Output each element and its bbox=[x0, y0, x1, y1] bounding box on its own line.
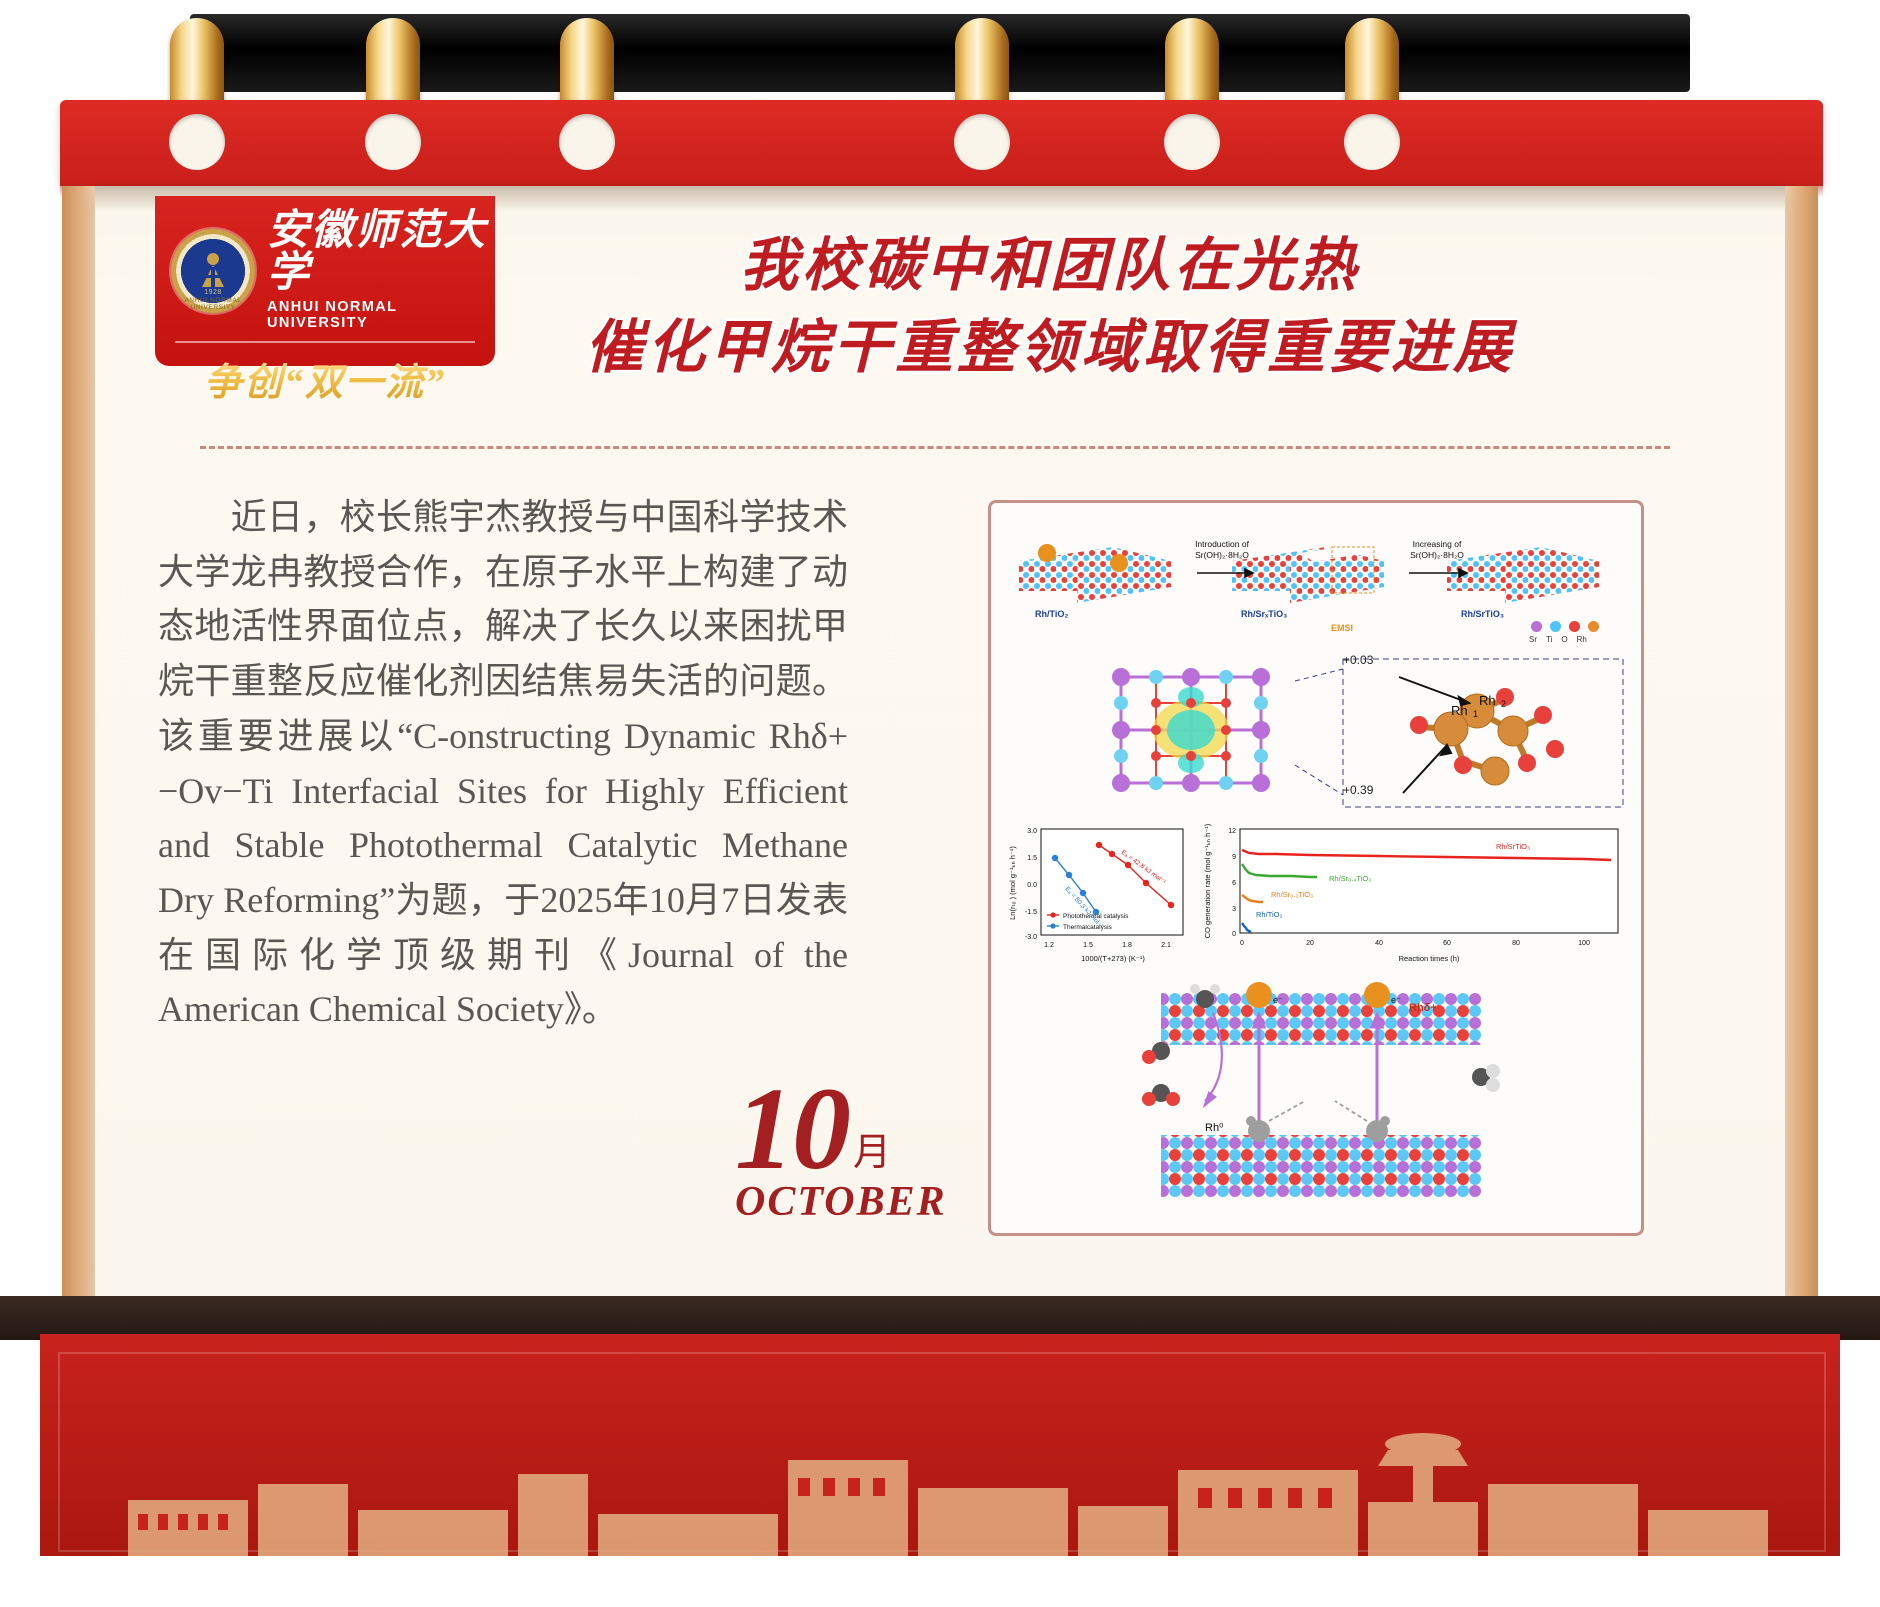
svg-text:1.5: 1.5 bbox=[1083, 942, 1093, 949]
svg-text:1.2: 1.2 bbox=[1044, 942, 1054, 949]
svg-text:Thermalcatalysis: Thermalcatalysis bbox=[1063, 924, 1113, 931]
page-edge-left bbox=[62, 186, 98, 1296]
svg-text:6: 6 bbox=[1232, 880, 1236, 887]
calendar-poster: 1928 ANHUI NORMAL UNIVERSITY 安徽师范大学 ANHU… bbox=[0, 0, 1880, 1607]
ring-hole bbox=[954, 114, 1010, 170]
svg-text:Rh/TiO₂: Rh/TiO₂ bbox=[1256, 910, 1282, 919]
ring-hole bbox=[559, 114, 615, 170]
month-unit-cn: 月 bbox=[853, 1121, 891, 1176]
svg-text:12: 12 bbox=[1228, 828, 1236, 835]
svg-text:0.0: 0.0 bbox=[1027, 882, 1037, 889]
svg-text:2: 2 bbox=[1501, 699, 1506, 709]
svg-text:40: 40 bbox=[1375, 940, 1383, 947]
stability-xlabel: Reaction times (h) bbox=[1399, 954, 1460, 963]
svg-text:-1.5: -1.5 bbox=[1025, 909, 1037, 916]
month-name-en: OCTOBER bbox=[735, 1178, 965, 1226]
slab2-label: Rh/SrₓTiO₃ bbox=[1241, 609, 1287, 619]
scheme-legend-labels: Sr Ti O Rh bbox=[1529, 635, 1587, 644]
article-paragraph: 近日，校长熊宇杰教授与中国科学技术大学龙冉教授合作，在原子水平上构建了动态地活性… bbox=[158, 490, 848, 1037]
svg-text:0: 0 bbox=[1240, 940, 1244, 947]
svg-text:Rh/SrTiO₃: Rh/SrTiO₃ bbox=[1496, 842, 1530, 851]
svg-text:1.8: 1.8 bbox=[1122, 942, 1132, 949]
scheme-arrow-2-text: Increasing ofSr(OH)₂·8H₂O bbox=[1399, 539, 1475, 560]
top-red-band bbox=[60, 100, 1823, 186]
svg-text:Rh/Sr₀.₄TiO₃: Rh/Sr₀.₄TiO₃ bbox=[1329, 874, 1371, 883]
headline-line-1: 我校碳中和团队在光热 bbox=[520, 225, 1580, 307]
svg-text:Rh/Sr₀.₂TiO₃: Rh/Sr₀.₂TiO₃ bbox=[1271, 890, 1313, 899]
rh-cluster-inset-graphic: Rh 1 Rh 2 bbox=[1291, 653, 1631, 813]
scheme-legend-swatches bbox=[1531, 621, 1599, 632]
dashed-divider bbox=[200, 446, 1670, 449]
slab3-label: Rh/SrTiO₃ bbox=[1461, 609, 1504, 619]
stability-ylabel: CO generation rate (mol g⁻¹ₖₕ h⁻¹) bbox=[1203, 823, 1212, 938]
stability-chart: 129 630 02040 6080100 Rh/SrTiO₃ Rh/Sr₀.₄… bbox=[1196, 821, 1631, 971]
month-stamp: 10月 OCTOBER bbox=[735, 1075, 965, 1226]
scheme-arrow-1-text: Introduction ofSr(OH)₂·8H₂O bbox=[1187, 539, 1257, 560]
rh-delta-label: Rhδ+ bbox=[1409, 1002, 1437, 1014]
article-body: 近日，校长熊宇杰教授与中国科学技术大学龙冉教授合作，在原子水平上构建了动态地活性… bbox=[158, 490, 848, 1037]
ring-hole bbox=[365, 114, 421, 170]
bottom-red-band bbox=[40, 1334, 1840, 1564]
svg-text:3.0: 3.0 bbox=[1027, 828, 1037, 835]
university-logo-block: 1928 ANHUI NORMAL UNIVERSITY 安徽师范大学 ANHU… bbox=[155, 196, 495, 366]
charge-density-graphic bbox=[1101, 655, 1281, 805]
ring-hole bbox=[1344, 114, 1400, 170]
research-figure-panel: Introduction ofSr(OH)₂·8H₂O Increasing o… bbox=[988, 500, 1644, 1236]
rh-zero-label: Rh⁰ bbox=[1205, 1122, 1224, 1134]
emsi-label: EMSI bbox=[1331, 623, 1353, 633]
page-title: 我校碳中和团队在光热 催化甲烷干重整领域取得重要进展 bbox=[520, 225, 1580, 390]
month-number: 10 bbox=[735, 1075, 849, 1184]
charge-bottom-label: +0.39 bbox=[1343, 783, 1373, 797]
svg-text:1: 1 bbox=[1473, 709, 1478, 719]
slab-rh-tio2 bbox=[1019, 544, 1171, 603]
svg-text:e⁻: e⁻ bbox=[1391, 995, 1401, 1005]
svg-text:-3.0: -3.0 bbox=[1025, 934, 1037, 941]
svg-text:Rh: Rh bbox=[1479, 693, 1496, 708]
university-seal-icon: 1928 ANHUI NORMAL UNIVERSITY bbox=[171, 229, 255, 313]
ring-hole bbox=[1164, 114, 1220, 170]
svg-text:e⁻: e⁻ bbox=[1273, 995, 1283, 1005]
university-name-en: ANHUI NORMAL UNIVERSITY bbox=[267, 299, 495, 331]
svg-text:60: 60 bbox=[1443, 940, 1451, 947]
svg-text:1.5: 1.5 bbox=[1027, 855, 1037, 862]
university-name-cn: 安徽师范大学 bbox=[267, 210, 495, 294]
svg-text:3: 3 bbox=[1232, 906, 1236, 913]
svg-text:20: 20 bbox=[1306, 940, 1314, 947]
campus-skyline-graphic bbox=[98, 1414, 1862, 1564]
logo-divider bbox=[175, 341, 475, 343]
svg-text:9: 9 bbox=[1232, 854, 1236, 861]
svg-text:Photothermal catalysis: Photothermal catalysis bbox=[1063, 913, 1129, 920]
university-slogan: 争创“双一流” bbox=[155, 351, 495, 406]
arrhenius-chart: 3.01.5 0.0-1.5-3.0 1.21.5 1.82.1 Eₐ = 80… bbox=[1003, 821, 1193, 971]
ring-hole bbox=[169, 114, 225, 170]
svg-text:100: 100 bbox=[1578, 940, 1590, 947]
page-edge-right bbox=[1782, 186, 1818, 1296]
arrhenius-ylabel: Ln(rₜₒ ) (mol g⁻¹ₖₕ h⁻¹) bbox=[1008, 846, 1017, 920]
arrhenius-xlabel: 1000/(T+273) (K⁻¹) bbox=[1081, 954, 1145, 963]
charge-top-label: +0.03 bbox=[1343, 653, 1373, 667]
svg-text:Rh: Rh bbox=[1451, 703, 1468, 718]
headline-line-2: 催化甲烷干重整领域取得重要进展 bbox=[520, 307, 1580, 389]
slab1-label: Rh/TiO₂ bbox=[1035, 609, 1068, 619]
desk-surface bbox=[0, 1556, 1880, 1580]
svg-text:2.1: 2.1 bbox=[1161, 942, 1171, 949]
mechanism-graphic: e⁻ e⁻ Rhδ+ Rh⁰ bbox=[1109, 981, 1539, 1213]
seal-year: 1928 bbox=[171, 289, 255, 296]
seal-arc-text: ANHUI NORMAL UNIVERSITY bbox=[171, 297, 255, 311]
svg-text:80: 80 bbox=[1512, 940, 1520, 947]
seal-figure-icon bbox=[191, 249, 235, 293]
svg-text:0: 0 bbox=[1232, 931, 1236, 938]
scheme-slabs-graphic bbox=[1001, 517, 1631, 637]
